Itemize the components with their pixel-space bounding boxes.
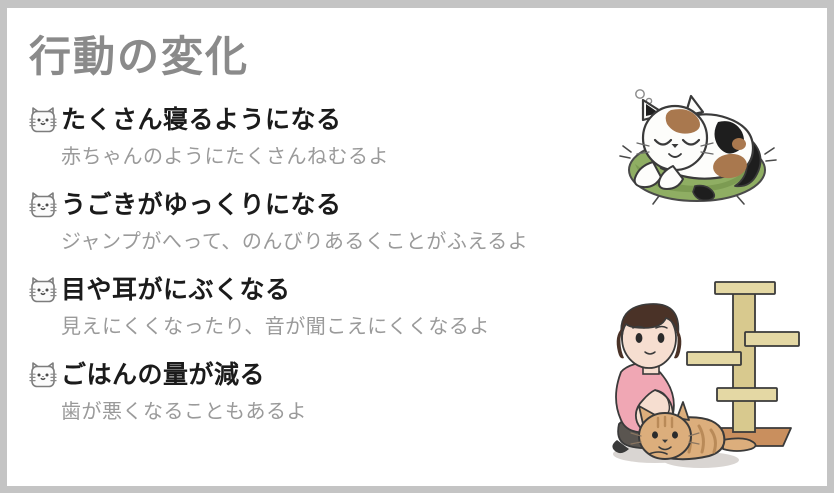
cat-face-icon bbox=[27, 359, 59, 391]
list-item-title: たくさん寝るようになる bbox=[61, 108, 342, 133]
list-item-title: 目や耳がにぶくなる bbox=[61, 278, 291, 303]
cat-face-icon bbox=[27, 189, 59, 221]
person-with-cat-and-cat-tower-illustration bbox=[595, 276, 810, 481]
cat-face-icon bbox=[27, 274, 59, 306]
list-item-title: うごきがゆっくりになる bbox=[61, 193, 342, 218]
cat-face-icon bbox=[27, 104, 59, 136]
slide-canvas: 行動の変化 bbox=[7, 8, 827, 486]
page-title: 行動の変化 bbox=[29, 34, 249, 80]
list-item-title: ごはんの量が減る bbox=[61, 363, 265, 388]
sleeping-cat-on-cushion-illustration bbox=[599, 82, 789, 212]
list-item-subtitle: ジャンプがへって、のんびりあるくことがふえるよ bbox=[61, 232, 727, 252]
